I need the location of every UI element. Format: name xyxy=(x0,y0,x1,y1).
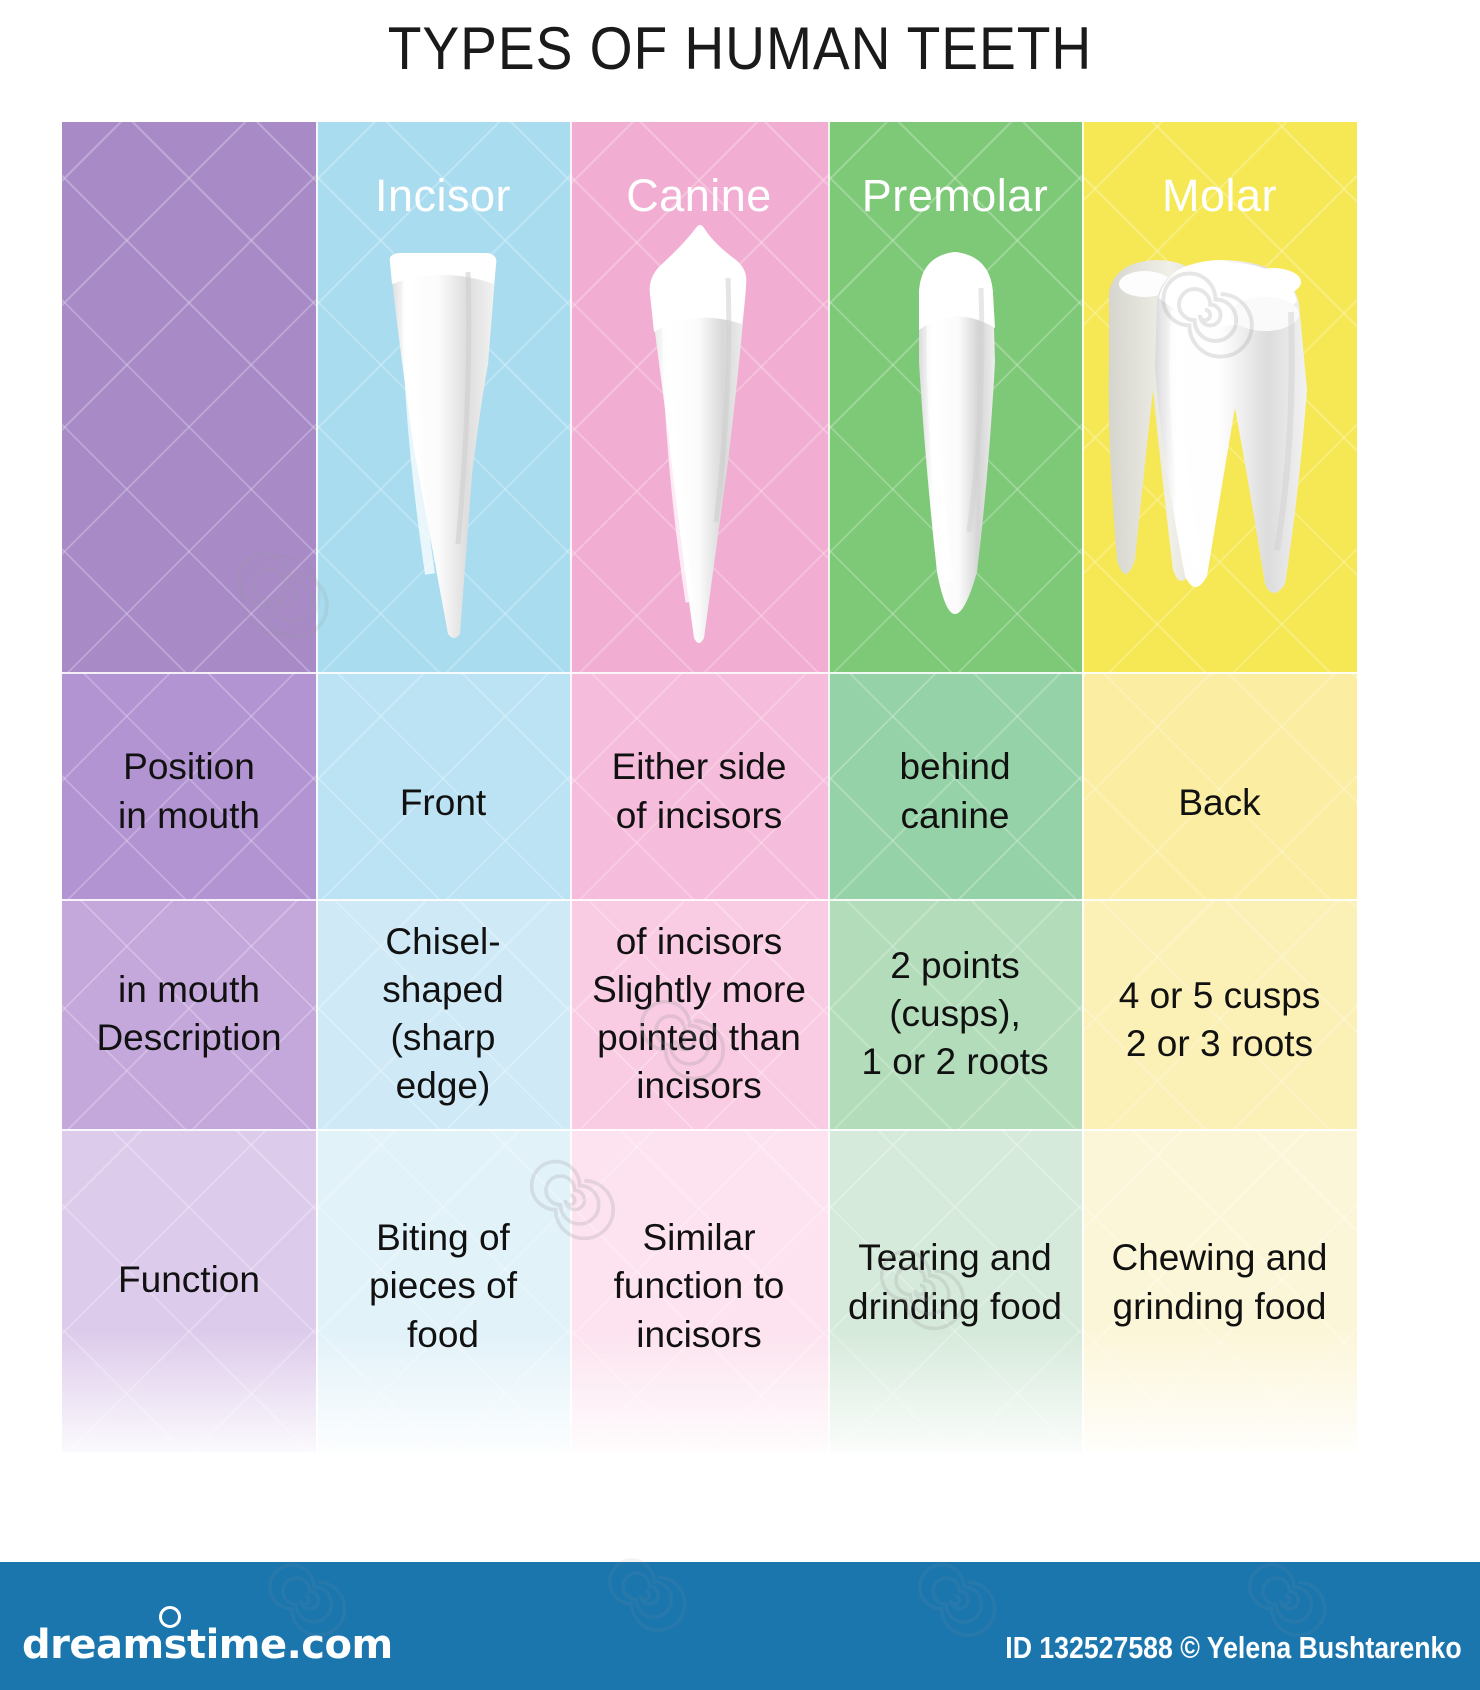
page-title: TYPES OF HUMAN TEETH xyxy=(59,14,1421,83)
cell-text: Front xyxy=(394,779,492,827)
row-label-description-text: in mouth Description xyxy=(90,966,287,1062)
row-label-function-text: Function xyxy=(112,1256,266,1304)
footer-bar: dreamstime.com ID 132527588 © Yelena Bus… xyxy=(0,1562,1480,1690)
cell-text: Chisel- shaped (sharp edge) xyxy=(376,918,509,1110)
cell-molar-function: Chewing and grinding food xyxy=(1082,1129,1357,1452)
canine-tooth-icon xyxy=(624,222,774,652)
dreamstime-logo-text: dreamstime.com xyxy=(22,1622,393,1668)
cell-text: Chewing and grinding food xyxy=(1106,1234,1334,1330)
column-header-premolar: Premolar xyxy=(828,170,1082,222)
row-label-description: in mouth Description xyxy=(62,899,316,1129)
poster-page: TYPES OF HUMAN TEETH Incisor xyxy=(0,0,1480,1690)
column-header-molar: Molar xyxy=(1082,170,1357,222)
molar-tooth-icon xyxy=(1095,240,1345,600)
cell-premolar-position: behind canine xyxy=(828,672,1082,899)
table-corner-cell xyxy=(62,122,316,672)
cell-text: Similar function to incisors xyxy=(608,1214,791,1358)
texture-overlay xyxy=(62,122,316,672)
cell-text: Back xyxy=(1172,779,1266,827)
incisor-tooth-icon xyxy=(368,244,518,644)
premolar-tooth-icon xyxy=(885,242,1025,622)
cell-incisor-function: Biting of pieces of food xyxy=(316,1129,570,1452)
cell-text: Tearing and drinding food xyxy=(842,1234,1068,1330)
cell-text: Either side of incisors xyxy=(606,743,793,839)
header-cell-incisor: Incisor xyxy=(316,122,570,672)
cell-premolar-function: Tearing and drinding food xyxy=(828,1129,1082,1452)
header-cell-molar: Molar xyxy=(1082,122,1357,672)
cell-molar-description: 4 or 5 cusps 2 or 3 roots xyxy=(1082,899,1357,1129)
cell-canine-position: Either side of incisors xyxy=(570,672,828,899)
cell-text: behind canine xyxy=(893,743,1016,839)
column-header-canine: Canine xyxy=(570,170,828,222)
row-label-function: Function xyxy=(62,1129,316,1452)
row-label-position: Position in mouth xyxy=(62,672,316,899)
column-header-incisor: Incisor xyxy=(316,170,570,222)
cell-incisor-description: Chisel- shaped (sharp edge) xyxy=(316,899,570,1129)
cell-canine-description: of incisors Slightly more pointed than i… xyxy=(570,899,828,1129)
row-label-position-text: Position in mouth xyxy=(112,743,266,839)
cell-molar-position: Back xyxy=(1082,672,1357,899)
cell-text: Biting of pieces of food xyxy=(363,1214,523,1358)
cell-text: 2 points (cusps), 1 or 2 roots xyxy=(855,942,1054,1086)
image-credit: ID 132527588 © Yelena Bushtarenko xyxy=(1006,1630,1462,1666)
teeth-comparison-table: Incisor xyxy=(62,122,1357,1452)
header-cell-canine: Canine xyxy=(570,122,828,672)
registered-mark-icon xyxy=(159,1606,181,1628)
cell-premolar-description: 2 points (cusps), 1 or 2 roots xyxy=(828,899,1082,1129)
header-cell-premolar: Premolar xyxy=(828,122,1082,672)
cell-text: of incisors Slightly more pointed than i… xyxy=(586,918,812,1110)
dreamstime-logo[interactable]: dreamstime.com xyxy=(22,1622,393,1668)
cell-incisor-position: Front xyxy=(316,672,570,899)
cell-text: 4 or 5 cusps 2 or 3 roots xyxy=(1113,972,1327,1068)
cell-canine-function: Similar function to incisors xyxy=(570,1129,828,1452)
